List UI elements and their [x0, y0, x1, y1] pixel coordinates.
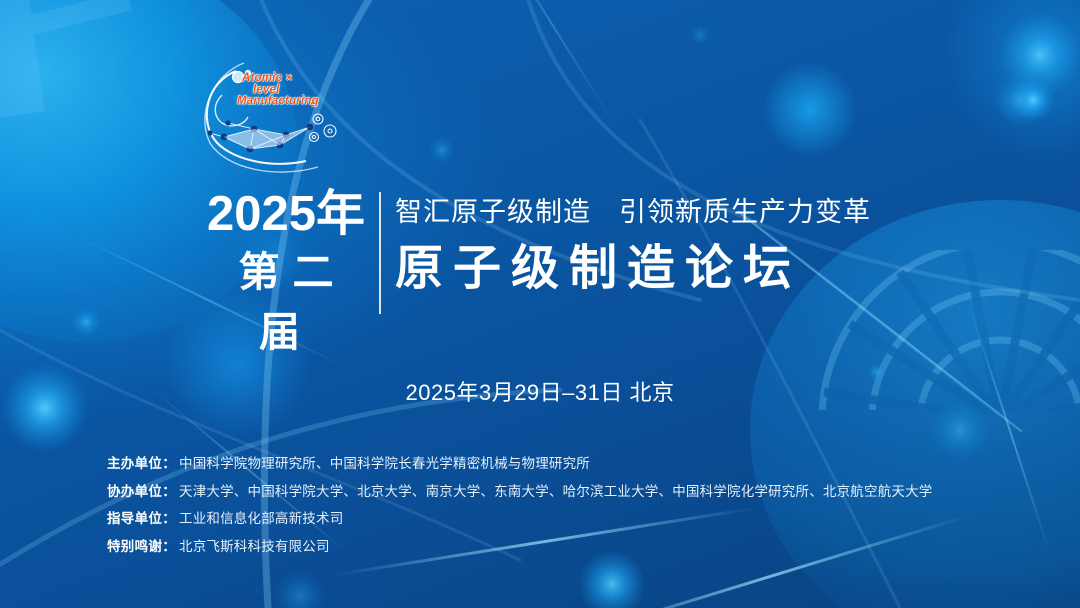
logo-line3: Manufacturing	[237, 96, 352, 108]
logo-multiply-icon: ×	[286, 72, 293, 84]
logo-wordmark: Atomic × level Manufacturing	[242, 73, 352, 108]
headline-main-title: 原子级制造论坛	[395, 238, 871, 300]
organizer-row: 指导单位： 工业和信息化部高新技术司	[107, 507, 1047, 528]
organizer-label: 协办单位：	[107, 480, 176, 500]
organizer-value: 工业和信息化部高新技术司	[179, 507, 343, 527]
headline-block: 2025年 第二届 智汇原子级制造 引领新质生产力变革 原子级制造论坛	[203, 186, 923, 320]
organizer-value: 中国科学院物理研究所、中国科学院长春光学精密机械与物理研究所	[179, 452, 590, 472]
decor-glints-topleft	[0, 0, 132, 118]
organizer-value: 天津大学、中国科学院大学、北京大学、南京大学、东南大学、哈尔滨工业大学、中国科学…	[179, 480, 933, 500]
organizer-label: 特别鸣谢：	[107, 535, 176, 555]
organizer-row: 协办单位： 天津大学、中国科学院大学、北京大学、南京大学、东南大学、哈尔滨工业大…	[107, 480, 1047, 501]
conference-poster: Atomic × level Manufacturing 2025年 第二届 智…	[0, 0, 1080, 608]
organizer-label: 主办单位：	[107, 452, 176, 472]
logo: Atomic × level Manufacturing	[198, 57, 348, 169]
headline-year: 2025年	[203, 186, 369, 242]
headline-edition: 第二届	[203, 242, 369, 362]
organizer-value: 北京飞斯科科技有限公司	[179, 535, 330, 555]
headline-left: 2025年 第二届	[203, 186, 369, 362]
organizer-row: 主办单位： 中国科学院物理研究所、中国科学院长春光学精密机械与物理研究所	[107, 452, 1047, 473]
organizer-row: 特别鸣谢： 北京飞斯科科技有限公司	[107, 535, 1047, 556]
logo-line1: Atomic	[242, 72, 282, 84]
organizer-list: 主办单位： 中国科学院物理研究所、中国科学院长春光学精密机械与物理研究所 协办单…	[107, 452, 1047, 562]
headline-subtitle: 智汇原子级制造 引领新质生产力变革	[395, 186, 871, 238]
date-location-line: 2025年3月29日–31日 北京	[0, 375, 1080, 407]
organizer-label: 指导单位：	[107, 507, 176, 527]
headline-right: 智汇原子级制造 引领新质生产力变革 原子级制造论坛	[395, 186, 871, 300]
headline-divider	[379, 192, 381, 314]
